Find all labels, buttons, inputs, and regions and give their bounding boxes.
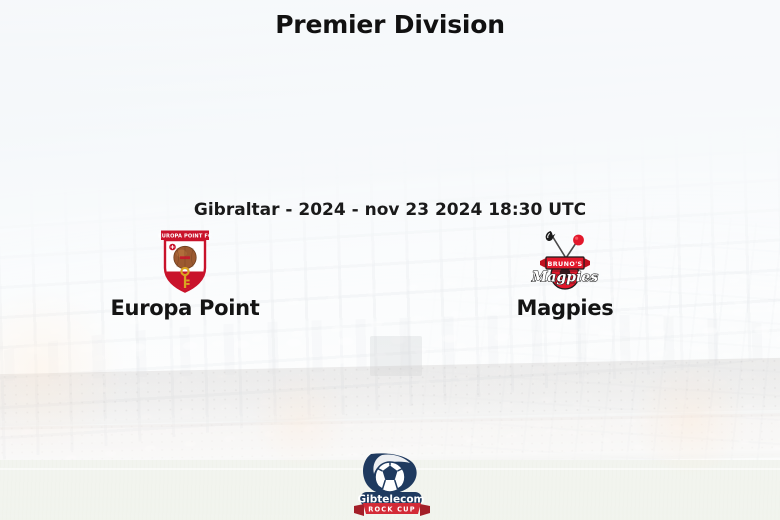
away-team-name: Magpies [435, 296, 695, 320]
svg-text:Magpies: Magpies [531, 270, 598, 286]
svg-text:ROCK CUP: ROCK CUP [368, 506, 416, 514]
teams-row: EUROPA POINT FC [0, 228, 780, 328]
home-team-name: Europa Point [55, 296, 315, 320]
match-meta-line: Gibraltar - 2024 - nov 23 2024 18:30 UTC [0, 200, 780, 220]
brunos-magpies-crest-icon: BRUNO'S Magpies [532, 228, 598, 294]
page-title: Premier Division [0, 10, 780, 39]
match-preview-card: Premier Division Gibraltar - 2024 - nov … [0, 0, 780, 520]
competition-logo[interactable]: Gibtelecom ROCK CUP [348, 452, 436, 520]
gibtelecom-rock-cup-logo-icon: Gibtelecom ROCK CUP [348, 452, 436, 520]
home-team[interactable]: EUROPA POINT FC [55, 228, 315, 320]
away-team[interactable]: BRUNO'S Magpies Magpies [435, 228, 695, 320]
away-team-crest: BRUNO'S Magpies [435, 228, 695, 294]
home-team-crest: EUROPA POINT FC [55, 228, 315, 294]
svg-text:EUROPA POINT FC: EUROPA POINT FC [158, 234, 212, 240]
svg-text:BRUNO'S: BRUNO'S [547, 260, 582, 268]
europa-point-fc-crest-icon: EUROPA POINT FC [152, 228, 218, 294]
